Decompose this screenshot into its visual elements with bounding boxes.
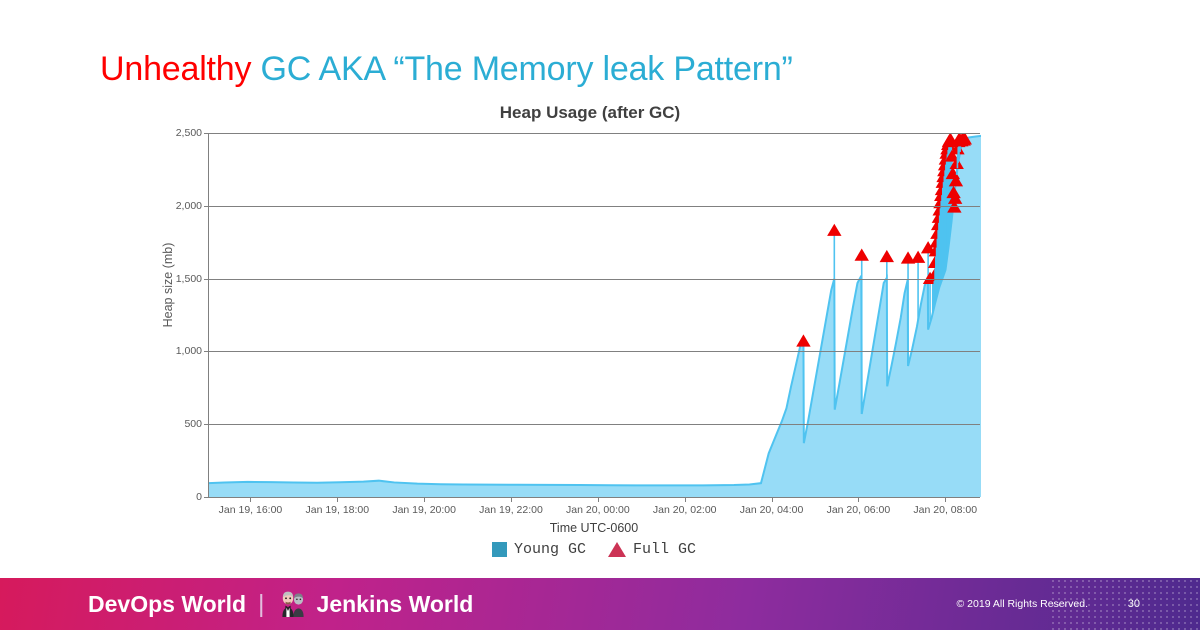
y-tick-label: 1,000 <box>176 345 202 357</box>
y-axis-title: Heap size (mb) <box>161 205 175 365</box>
young-gc-swatch-icon <box>492 542 507 557</box>
legend-label-full-gc: Full GC <box>633 541 696 558</box>
x-tick-mark <box>598 497 599 502</box>
gridline <box>209 133 980 134</box>
footer-divider: | <box>256 590 267 619</box>
x-tick-label: Jan 19, 20:00 <box>392 504 456 516</box>
footer-brand-devops-world: DevOps World <box>88 591 246 618</box>
y-tick-label: 500 <box>184 418 202 430</box>
footer-bar: DevOps World | <box>0 578 1200 630</box>
full-gc-triangle-icon <box>608 542 626 557</box>
x-tick-label: Jan 20, 00:00 <box>566 504 630 516</box>
gridline <box>209 279 980 280</box>
y-tick-mark <box>204 206 209 207</box>
x-axis-line <box>208 497 980 498</box>
x-tick-mark <box>858 497 859 502</box>
gridline <box>209 206 980 207</box>
gridline <box>209 424 980 425</box>
y-tick-mark <box>204 424 209 425</box>
footer-page-number: 30 <box>1128 598 1140 610</box>
footer-branding: DevOps World | <box>88 589 473 619</box>
x-tick-mark <box>511 497 512 502</box>
x-tick-mark <box>337 497 338 502</box>
x-tick-label: Jan 20, 02:00 <box>653 504 717 516</box>
jenkins-butler-icon <box>277 589 307 619</box>
legend-label-young-gc: Young GC <box>514 541 586 558</box>
footer-copyright: © 2019 All Rights Reserved. <box>957 598 1088 610</box>
x-tick-label: Jan 19, 22:00 <box>479 504 543 516</box>
y-tick-mark <box>204 133 209 134</box>
y-tick-label: 0 <box>196 491 202 503</box>
page-title-rest: GC AKA “The Memory leak Pattern” <box>251 50 792 88</box>
x-tick-mark <box>685 497 686 502</box>
chart-legend: Young GC Full GC <box>208 541 980 558</box>
y-tick-label: 2,500 <box>176 127 202 139</box>
page-title-emphasis: Unhealthy <box>100 50 251 88</box>
x-tick-mark <box>945 497 946 502</box>
y-tick-mark <box>204 279 209 280</box>
chart-plot-svg <box>209 133 981 497</box>
x-tick-label: Jan 20, 04:00 <box>740 504 804 516</box>
legend-item-young-gc[interactable]: Young GC <box>492 541 586 558</box>
plot-area: 05001,0001,5002,0002,500 <box>208 133 980 497</box>
legend-item-full-gc[interactable]: Full GC <box>608 541 696 558</box>
young-gc-area <box>209 136 981 497</box>
x-axis-title: Time UTC-0600 <box>208 521 980 535</box>
x-tick-label: Jan 20, 08:00 <box>913 504 977 516</box>
x-tick-label: Jan 19, 16:00 <box>219 504 283 516</box>
x-tick-label: Jan 20, 06:00 <box>827 504 891 516</box>
gridline <box>209 351 980 352</box>
x-tick-label: Jan 19, 18:00 <box>305 504 369 516</box>
chart-title: Heap Usage (after GC) <box>140 103 1000 123</box>
page-title: Unhealthy GC AKA “The Memory leak Patter… <box>100 50 793 89</box>
x-tick-mark <box>424 497 425 502</box>
y-tick-mark <box>204 351 209 352</box>
y-tick-label: 1,500 <box>176 273 202 285</box>
heap-usage-chart: Heap Usage (after GC) Heap size (mb) 050… <box>140 103 1000 568</box>
x-tick-mark <box>772 497 773 502</box>
x-tick-mark <box>250 497 251 502</box>
y-tick-label: 2,000 <box>176 200 202 212</box>
footer-brand-jenkins-world: Jenkins World <box>317 591 474 618</box>
